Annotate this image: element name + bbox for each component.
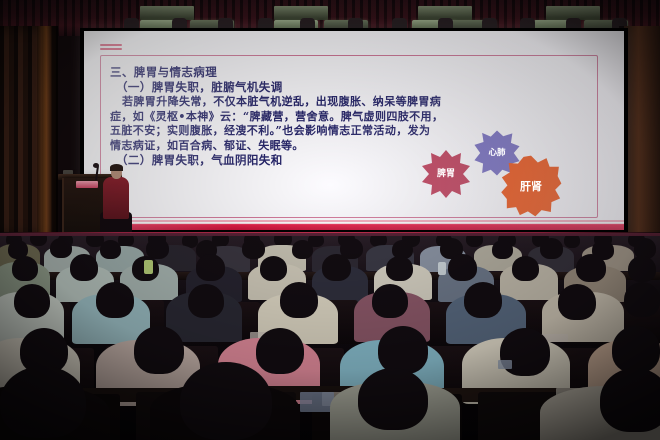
stage-wall-right [624,26,660,238]
curtain-highlight [36,26,52,236]
slide-accent-band [84,222,624,230]
audience-area [0,236,660,440]
lecturer-hair [110,164,123,171]
gear-liver-kidney-label: 肝肾 [520,181,542,192]
slide-body-line-1: 若脾胃升降失常，不仅本脏气机逆乱，出现腹胀、纳呆等脾胃病 [110,95,592,110]
podium-name-plate [76,181,98,188]
gear-spleen-label: 脾胃 [437,170,455,179]
gear-liver-kidney: 肝肾 [494,155,568,217]
gear-diagram: 脾胃 心肺 肝肾 [406,127,596,217]
slide-body-line-2: 症，如《灵枢•本神》云：“脾藏营，营舍意。脾气虚则四肢不用， [110,110,592,125]
gear-spleen-stomach: 脾胃 [420,149,472,199]
slide-subheading: （一）脾胃失职，脏腑气机失调 [110,80,592,95]
lecture-hall-photo: 三、脾胃与情志病理 （一）脾胃失职，脏腑气机失调 若脾胃升降失常，不仅本脏气机逆… [0,0,660,440]
slide-dash-decoration [100,44,122,52]
projection-screen: 三、脾胃与情志病理 （一）脾胃失职，脏腑气机失调 若脾胃升降失常，不仅本脏气机逆… [84,31,624,230]
slide-heading: 三、脾胃与情志病理 [110,65,592,80]
gear-heart-lung-label: 心肺 [488,149,505,158]
microphone-icon [93,163,99,168]
lecturer-body [103,177,129,219]
